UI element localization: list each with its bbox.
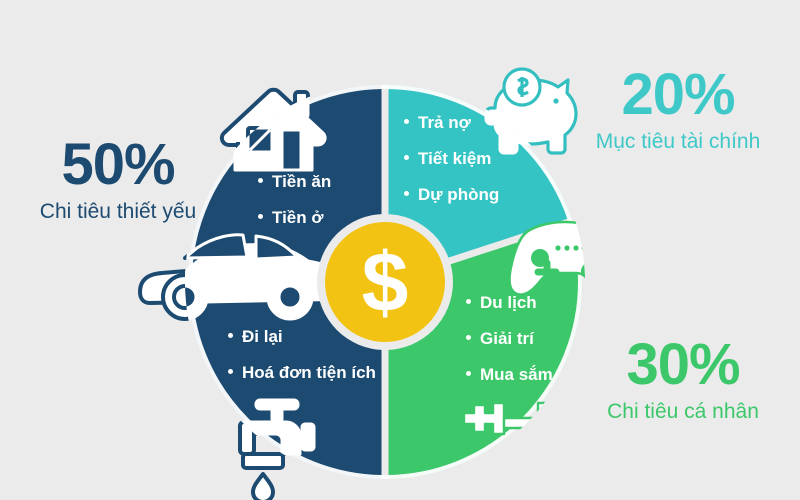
- dollar-symbol: $: [362, 235, 409, 329]
- bullet-dot: [228, 333, 233, 338]
- essential-caption: Chi tiêu thiết yếu: [8, 201, 228, 222]
- bullet-dot: [466, 299, 471, 304]
- list-item: Mua sắm: [466, 366, 553, 383]
- bullet-dot: [258, 214, 263, 219]
- list-item-label: Tiền ăn: [272, 172, 331, 191]
- list-item-label: Hoá đơn tiện ích: [242, 363, 376, 382]
- bullet-dot: [466, 371, 471, 376]
- bullet-dot: [404, 191, 409, 196]
- bullet-dot: [466, 335, 471, 340]
- list-item: Hoá đơn tiện ích: [228, 364, 376, 381]
- list-item: Trả nợ: [404, 114, 499, 131]
- list-item: Giải trí: [466, 330, 553, 347]
- personal-items: Du lịch Giải trí Mua sắm: [466, 294, 553, 383]
- list-item-label: Mua sắm: [480, 365, 553, 384]
- financial-caption: Mục tiêu tài chính: [556, 131, 800, 152]
- financial-percent: 20%: [556, 66, 800, 124]
- bullet-dot: [258, 178, 263, 183]
- essential-percent: 50%: [8, 136, 228, 194]
- list-item-label: Dự phòng: [418, 185, 499, 204]
- legend-essential[interactable]: 50% Chi tiêu thiết yếu: [8, 136, 228, 222]
- list-item-label: Trả nợ: [418, 113, 471, 132]
- legend-personal[interactable]: 30% Chi tiêu cá nhân: [566, 336, 800, 422]
- essential-items-top: Tiền ăn Tiền ở: [258, 173, 331, 226]
- list-item: Tiền ở: [258, 209, 331, 226]
- list-item: Dự phòng: [404, 186, 499, 203]
- bullet-dot: [404, 155, 409, 160]
- bullet-dot: [228, 369, 233, 374]
- list-item: Du lịch: [466, 294, 553, 311]
- essential-items-bottom: Đi lại Hoá đơn tiện ích: [228, 328, 376, 381]
- infographic-canvas: $ 50% Chi tiêu thiết yếu 20% Mục tiêu tà…: [0, 0, 800, 500]
- bullet-dot: [404, 119, 409, 124]
- list-item-label: Tiền ở: [272, 208, 323, 227]
- list-item: Tiền ăn: [258, 173, 331, 190]
- financial-items: Trả nợ Tiết kiệm Dự phòng: [404, 114, 499, 203]
- list-item: Đi lại: [228, 328, 376, 345]
- list-item-label: Giải trí: [480, 329, 534, 348]
- list-item-label: Tiết kiệm: [418, 149, 491, 168]
- list-item-label: Du lịch: [480, 293, 537, 312]
- legend-financial[interactable]: 20% Mục tiêu tài chính: [556, 66, 800, 152]
- list-item-label: Đi lại: [242, 327, 283, 346]
- list-item: Tiết kiệm: [404, 150, 499, 167]
- personal-caption: Chi tiêu cá nhân: [566, 401, 800, 422]
- personal-percent: 30%: [566, 336, 800, 394]
